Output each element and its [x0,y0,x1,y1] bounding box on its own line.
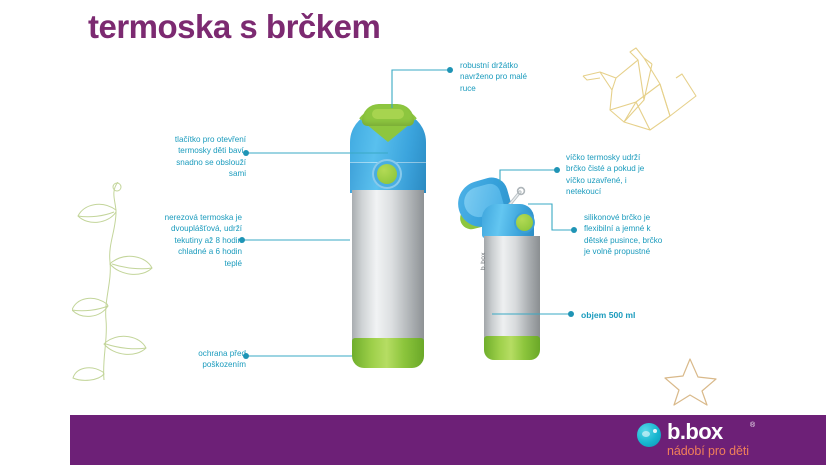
callout-straw: silikonové brčko je flexibilní a jemné k… [584,212,696,258]
connector-dot-straw [571,227,577,233]
callout-lid: víčko termosky udrží brčko čisté a pokud… [566,152,678,198]
callout-connectors [0,0,826,465]
bubble-circle-icon [637,423,661,447]
bubble-highlight-large [642,431,650,437]
logo-tagline: nádobí pro děti [667,444,749,458]
logo-wordmark: b.box [667,419,723,445]
callout-button: tlačítko pro otevření termosky děti baví… [141,134,246,180]
callout-insulation: nerezová termoska je dvouplášťová, udrží… [132,212,242,269]
callout-volume: objem 500 ml [581,309,691,321]
connector-straw [528,204,573,230]
callout-handle: robustní držátko navrženo pro malé ruce [460,60,565,94]
connector-lid [500,170,556,182]
logo-trademark: ® [750,422,755,429]
connector-dot-lid [554,167,560,173]
brand-logo: b.box ® nádobí pro děti [637,419,777,463]
callout-protection: ochrana před poškozením [156,348,246,371]
connector-dot-volume [568,311,574,317]
bubble-highlight-small [653,429,657,433]
connector-dot-handle [447,67,453,73]
slide-canvas: termoska s brčkem b.box [0,0,826,465]
connector-handle [392,70,449,108]
